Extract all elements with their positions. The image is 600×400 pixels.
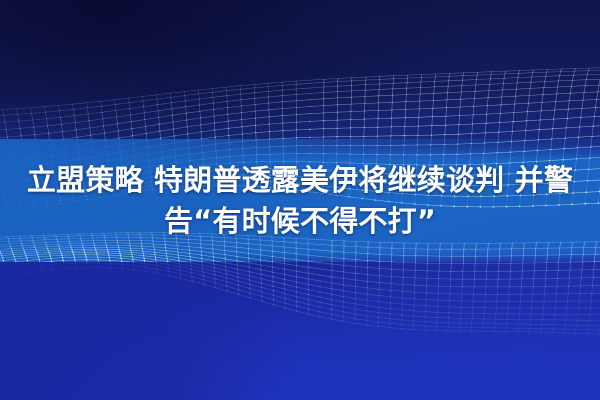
hero-banner: 立盟策略 特朗普透露美伊将继续谈判 并警告“有时候不得不打” [0, 0, 600, 400]
page-title: 立盟策略 特朗普透露美伊将继续谈判 并警告“有时候不得不打” [0, 160, 600, 242]
